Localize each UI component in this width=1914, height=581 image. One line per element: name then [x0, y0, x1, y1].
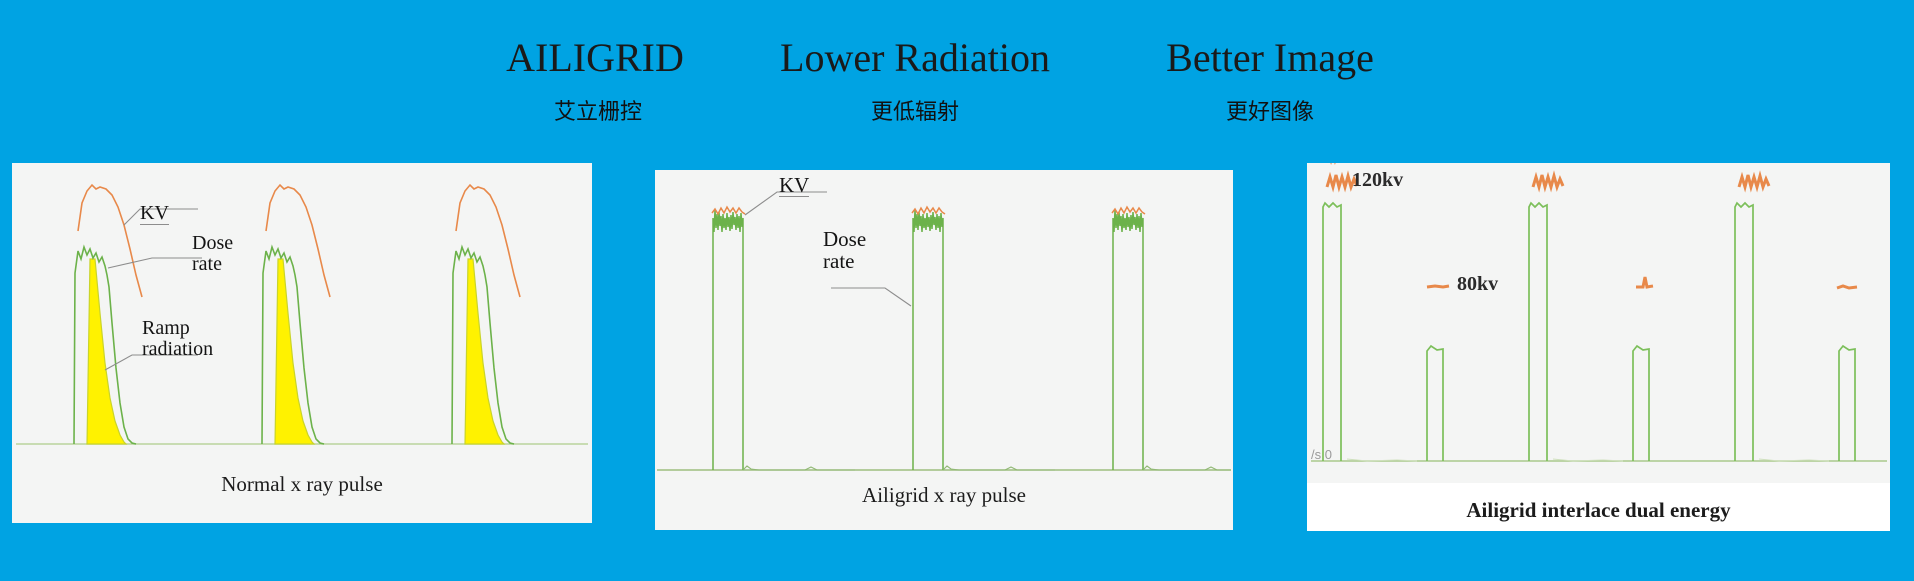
ramp-radiation-fill-3	[465, 259, 504, 444]
kv80-marker-icon-3	[1835, 275, 1869, 297]
low-energy-pulse-3	[1839, 346, 1855, 461]
annotation-kv: KV	[779, 174, 809, 197]
low-energy-pulse-1	[1427, 346, 1443, 461]
ramp-radiation-fill-1	[87, 259, 126, 444]
kv80-marker-icon-1	[1425, 273, 1459, 295]
chart-panel-normal: KV Dose rate Ramp radiation Normal x ray…	[12, 163, 592, 523]
panel-caption-ailigrid: Ailigrid x ray pulse	[655, 483, 1233, 508]
kv-pulse-1	[712, 207, 745, 214]
kv-squiggle-icon-3	[1737, 169, 1777, 195]
dose-rate-pulse-3	[1113, 210, 1143, 470]
annotation-kv: KV	[140, 203, 169, 225]
header-column-2: Lower Radiation 更低辐射	[740, 38, 1090, 126]
header-title-zh-2: 更低辐射	[740, 94, 1090, 126]
ramp-radiation-fill-2	[275, 259, 314, 444]
legend-label-80kv: 80kv	[1457, 273, 1498, 296]
normal-pulse-waveform	[12, 163, 592, 483]
header-title-en-3: Better Image	[1085, 38, 1455, 78]
kv-pulse-2	[912, 207, 945, 214]
high-energy-pulse-3	[1735, 203, 1753, 461]
chart-panel-dual-energy: 120kv 80kv /s 0 Ailigrid interlace dual …	[1307, 163, 1890, 531]
header-title-zh-3: 更好图像	[1085, 94, 1455, 126]
dose-rate-leader-line	[108, 258, 202, 268]
kv80-marker-icon-2	[1633, 269, 1667, 295]
panel-caption-normal: Normal x ray pulse	[12, 472, 592, 497]
dual-energy-waveform	[1307, 163, 1890, 483]
header-title-en-1: AILIGRID	[430, 38, 760, 78]
header-column-1: AILIGRID 艾立栅控	[430, 38, 760, 126]
header-title-zh-1: 艾立栅控	[436, 94, 760, 126]
dose-rate-pulse-1	[713, 210, 743, 470]
legend-label-120kv: 120kv	[1352, 169, 1403, 192]
dose-rate-pulse-2	[913, 210, 943, 470]
annotation-dose-rate: Dose rate	[823, 228, 866, 272]
kv-curve-1	[78, 185, 142, 297]
kv-squiggle-icon-2	[1531, 169, 1571, 195]
high-energy-pulse-1	[1323, 203, 1341, 461]
kv-pulse-3	[1112, 207, 1145, 214]
ailigrid-pulse-waveform	[655, 170, 1233, 492]
chart-panel-ailigrid: KV Dose rate Ailigrid x ray pulse	[655, 170, 1233, 530]
panel-caption-dual-energy: Ailigrid interlace dual energy	[1307, 498, 1890, 523]
annotation-dose-rate: Dose rate	[192, 233, 233, 275]
high-energy-pulse-2	[1529, 203, 1547, 461]
kv-curve-3	[456, 185, 520, 297]
header-banner: AILIGRID 艾立栅控 Lower Radiation 更低辐射 Bette…	[0, 0, 1914, 150]
header-title-en-2: Lower Radiation	[740, 38, 1090, 78]
header-column-3: Better Image 更好图像	[1085, 38, 1455, 126]
axis-origin-label: /s 0	[1311, 447, 1332, 462]
kv-curve-2	[266, 185, 330, 297]
low-energy-pulse-2	[1633, 346, 1649, 461]
dose-rate-leader-line	[831, 288, 911, 306]
annotation-ramp-radiation: Ramp radiation	[142, 318, 213, 360]
